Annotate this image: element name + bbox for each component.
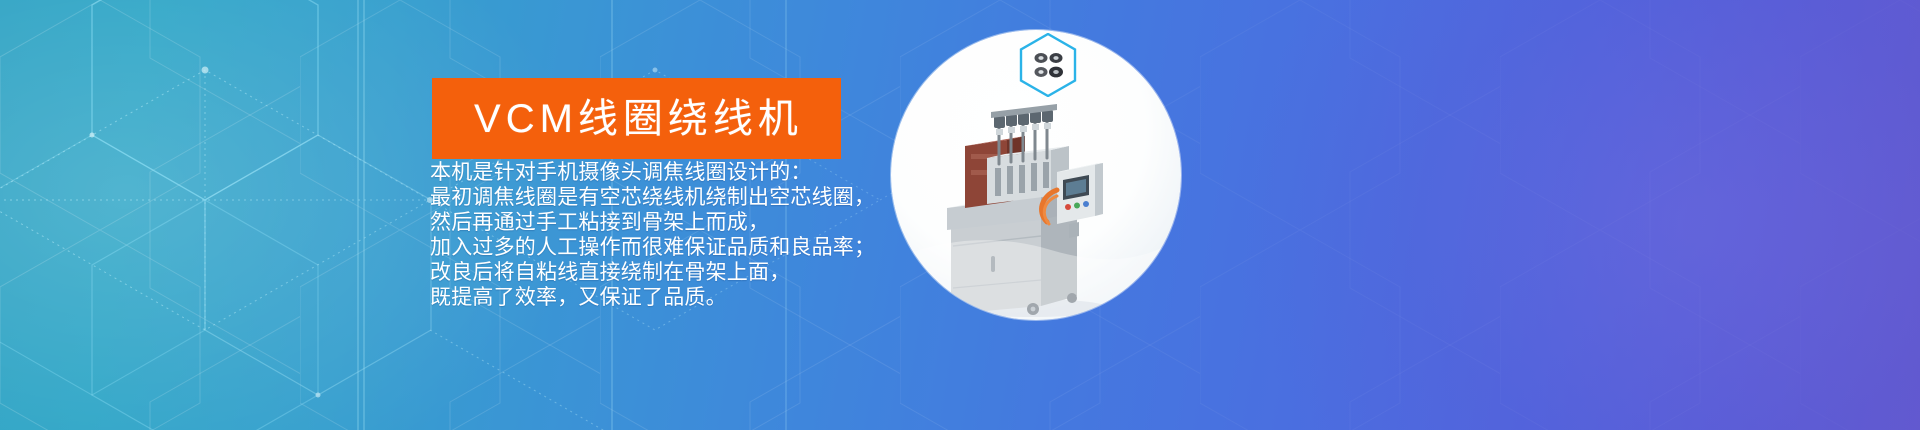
background-glow-right bbox=[1240, 0, 1920, 430]
promo-banner: VCM线圈绕线机 本机是针对手机摄像头调焦线圈设计的： 最初调焦线圈是有空芯绕线… bbox=[0, 0, 1920, 430]
product-sample-hex-badge bbox=[1019, 33, 1077, 97]
title-banner-box: VCM线圈绕线机 bbox=[432, 78, 841, 159]
description-line-6: 既提高了效率，又保证了品质。 bbox=[430, 285, 990, 310]
page-title: VCM线圈绕线机 bbox=[470, 99, 803, 139]
description-line-5: 改良后将自粘线直接绕制在骨架上面， bbox=[430, 260, 990, 285]
